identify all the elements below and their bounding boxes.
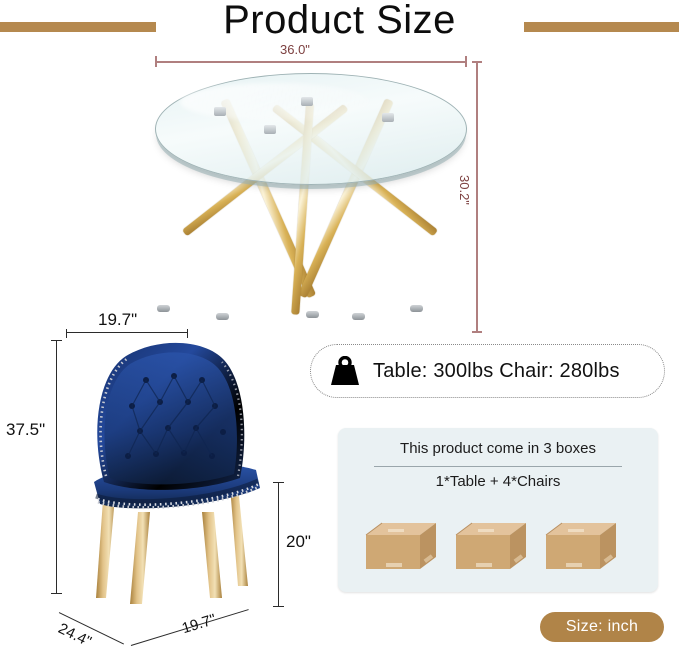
table-bracket-4 xyxy=(382,113,394,122)
chair-width-top-dimension-line xyxy=(66,332,188,333)
chair-figure: 19.7" 37.5" 20" 24.4" 19.7" xyxy=(20,310,310,640)
carton-icon xyxy=(452,513,530,575)
table-bracket-2 xyxy=(301,97,313,106)
page-title: Product Size xyxy=(0,0,679,43)
table-height-dimension-line xyxy=(476,61,478,333)
chair-height-dimension-line xyxy=(56,340,57,594)
packaging-title: This product come in 3 boxes xyxy=(338,440,658,457)
table-height-arrow-bottom xyxy=(472,331,482,333)
size-unit-label: Size: inch xyxy=(566,618,638,636)
packaging-divider xyxy=(374,466,622,467)
table-foot-2 xyxy=(410,305,423,312)
table-bracket-1 xyxy=(214,107,226,116)
packaging-subtitle: 1*Table + 4*Chairs xyxy=(338,473,658,490)
carton-icon xyxy=(362,513,440,575)
weight-icon xyxy=(327,356,363,386)
chair-height-label: 37.5" xyxy=(6,420,45,440)
table-bracket-3 xyxy=(264,125,276,134)
chair-seat-height-label: 20" xyxy=(286,532,311,552)
carton-icon xyxy=(542,513,620,575)
packaging-panel: This product come in 3 boxes 1*Table + 4… xyxy=(338,428,658,592)
chair-depth-label: 24.4" xyxy=(56,620,94,650)
weight-capacity-badge: Table: 300lbs Chair: 280lbs xyxy=(310,344,665,398)
table-figure: 36.0" 30.2" xyxy=(120,55,500,345)
table-foot-4 xyxy=(352,313,365,320)
chair-width-top-label: 19.7" xyxy=(98,310,137,330)
chair-illustration xyxy=(60,336,275,616)
table-glass-highlight xyxy=(180,83,370,121)
size-unit-badge: Size: inch xyxy=(540,612,664,642)
table-width-dimension-line xyxy=(155,61,467,63)
chair-seat-height-dimension-line xyxy=(278,482,279,607)
table-width-tick-right xyxy=(465,56,467,67)
table-height-label: 30.2" xyxy=(457,175,472,205)
table-height-arrow-top xyxy=(472,61,482,63)
table-width-label: 36.0" xyxy=(280,42,310,57)
weight-capacity-text: Table: 300lbs Chair: 280lbs xyxy=(373,360,620,383)
header: Product Size xyxy=(0,0,679,48)
table-width-tick-left xyxy=(155,56,157,67)
